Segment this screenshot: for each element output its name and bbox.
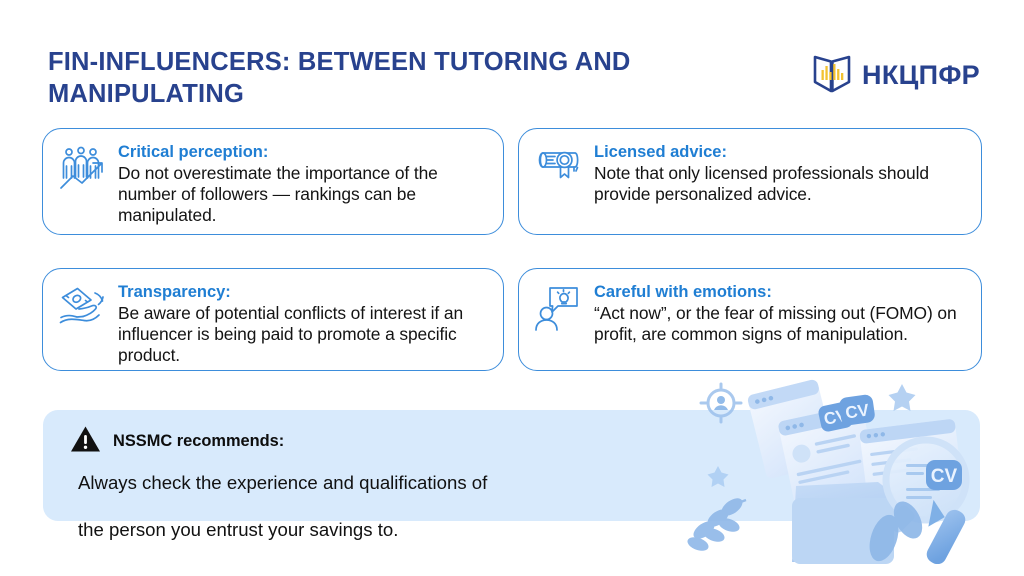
card-body: Critical perception: Do not overestimate…: [118, 142, 489, 227]
page-title: FIN-INFLUENCERS: BETWEEN TUTORING AND MA…: [48, 46, 738, 110]
warning-triangle-icon: [70, 425, 101, 458]
person-speech-bubble-lightbulb-icon: [532, 284, 590, 340]
recommendation-banner: NSSMC recommends: Always check the exper…: [43, 410, 980, 521]
banner-heading-row: NSSMC recommends:: [70, 424, 710, 458]
card-body: Licensed advice: Note that only licensed…: [594, 142, 967, 205]
banner-line-1: Always check the experience and qualific…: [78, 474, 710, 493]
card-licensed-advice: Licensed advice: Note that only licensed…: [518, 128, 982, 235]
card-heading: Licensed advice:: [594, 142, 967, 162]
card-transparency: Transparency: Be aware of potential conf…: [42, 268, 504, 371]
card-heading: Critical perception:: [118, 142, 489, 162]
nssmc-logo: НКЦПФР: [811, 52, 980, 99]
star: [889, 384, 916, 411]
hand-money-icon: [56, 284, 114, 340]
people-growth-chart-icon: [56, 144, 114, 200]
diploma-certificate-icon: [532, 144, 590, 200]
card-text: Do not overestimate the importance of th…: [118, 163, 489, 226]
banner-line-2: the person you entrust your savings to.: [78, 521, 710, 540]
shield-book-bars-icon: [811, 52, 853, 99]
card-text: Note that only licensed professionals sh…: [594, 163, 967, 205]
logo-text: НКЦПФР: [862, 62, 980, 89]
card-text: Be aware of potential conflicts of inter…: [118, 303, 489, 366]
page-header: FIN-INFLUENCERS: BETWEEN TUTORING AND MA…: [48, 46, 994, 118]
card-careful-with-emotions: Careful with emotions: “Act now”, or the…: [518, 268, 982, 371]
card-heading: Transparency:: [118, 282, 489, 302]
card-heading: Careful with emotions:: [594, 282, 967, 302]
banner-heading: NSSMC recommends:: [113, 433, 284, 449]
card-text: “Act now”, or the fear of missing out (F…: [594, 303, 967, 345]
card-body: Transparency: Be aware of potential conf…: [118, 282, 489, 367]
card-critical-perception: Critical perception: Do not overestimate…: [42, 128, 504, 235]
card-body: Careful with emotions: “Act now”, or the…: [594, 282, 967, 345]
banner-content: NSSMC recommends: Always check the exper…: [70, 424, 710, 539]
infographic-page: FIN-INFLUENCERS: BETWEEN TUTORING AND MA…: [0, 0, 1024, 576]
